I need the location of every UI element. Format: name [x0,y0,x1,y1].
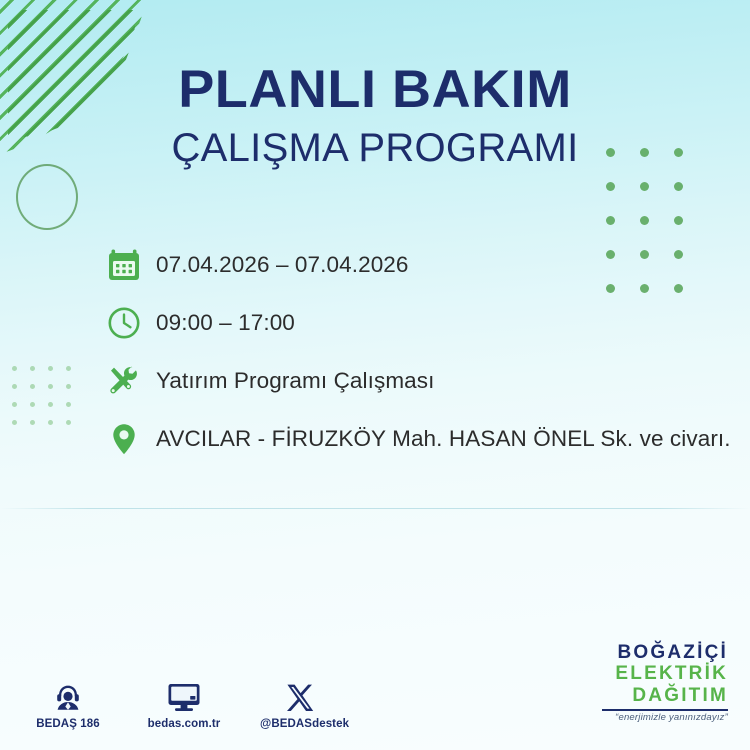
contact-website[interactable]: bedas.com.tr [144,676,224,732]
logo-rule [602,709,728,711]
logo-line-dagitim: DAĞITIM [602,685,728,706]
list-item-date: 07.04.2026 – 07.04.2026 [100,236,730,294]
headset-operator-icon [28,676,108,714]
contact-call-center-label: BEDAŞ 186 [36,718,100,730]
section-divider [0,508,750,509]
list-item-work-type: Yatırım Programı Çalışması [100,352,730,410]
contact-call-center[interactable]: BEDAŞ 186 [28,676,108,732]
date-range-text: 07.04.2026 – 07.04.2026 [148,252,409,278]
title-main: PLANLI BAKIM [0,62,750,118]
footer: BEDAŞ 186 bedas.com.tr [0,648,750,738]
bedas-logo: BOĞAZİÇİ ELEKTRİK DAĞITIM “enerjimizle y… [602,642,728,722]
circle-outline-decoration [16,164,78,230]
planned-maintenance-poster: PLANLI BAKIM ÇALIŞMA PROGRAMI [0,0,750,750]
contact-social-x-label: @BEDASdestek [260,718,349,730]
logo-tagline: “enerjimizle yanınızdayız” [602,713,728,723]
logo-line-elektrik: ELEKTRİK [602,663,728,684]
dot-grid-decoration-left [12,366,84,438]
footer-contact-list: BEDAŞ 186 bedas.com.tr [28,676,340,732]
x-twitter-icon [260,676,340,714]
monitor-icon [144,676,224,714]
contact-website-label: bedas.com.tr [148,718,221,730]
logo-line-bogazici: BOĞAZİÇİ [602,642,728,663]
time-range-text: 09:00 – 17:00 [148,310,295,336]
location-text: AVCILAR - FİRUZKÖY Mah. HASAN ÖNEL Sk. v… [148,426,731,452]
contact-social-x[interactable]: @BEDASdestek [260,676,340,732]
page-title: PLANLI BAKIM ÇALIŞMA PROGRAMI [0,62,750,172]
list-item-location: AVCILAR - FİRUZKÖY Mah. HASAN ÖNEL Sk. v… [100,410,730,468]
maintenance-details-list: 07.04.2026 – 07.04.2026 09:00 – 17:00 [100,236,730,468]
tools-icon [100,357,148,405]
location-pin-icon [100,415,148,463]
list-item-time: 09:00 – 17:00 [100,294,730,352]
title-sub: ÇALIŞMA PROGRAMI [0,124,750,172]
clock-icon [100,299,148,347]
calendar-icon [100,241,148,289]
work-type-text: Yatırım Programı Çalışması [148,368,435,394]
